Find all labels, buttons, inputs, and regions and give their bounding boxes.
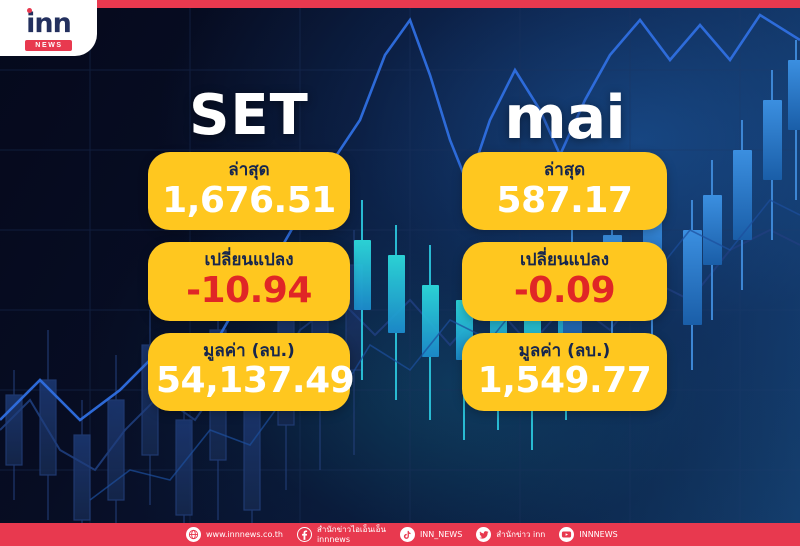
card-value: 54,137.49 — [156, 362, 342, 400]
top-red-bar — [0, 0, 800, 8]
poster-canvas: inn NEWS SET ล่าสุด 1,676.51 เปลี่ยนแปลง… — [0, 0, 800, 546]
index-block-set: SET ล่าสุด 1,676.51 เปลี่ยนแปลง -10.94 ม… — [148, 88, 350, 423]
index-name-set: SET — [148, 88, 350, 152]
card-value: -0.09 — [470, 272, 659, 310]
logo-wordmark-text: inn — [26, 8, 71, 39]
card-set-value: มูลค่า (ลบ.) 54,137.49 — [148, 333, 350, 411]
footer-link-tiktok[interactable]: INN_NEWS — [400, 527, 462, 542]
card-label: มูลค่า (ลบ.) — [470, 342, 659, 362]
facebook-icon — [297, 527, 312, 542]
youtube-icon — [559, 527, 574, 542]
card-label: ล่าสุด — [470, 161, 659, 181]
globe-icon — [186, 527, 201, 542]
footer-link-label: INN_NEWS — [420, 530, 462, 539]
footer-link-label-line1: สำนักข่าวไอเอ็นเอ็น — [317, 525, 386, 534]
footer-link-label-line2: innnews — [317, 535, 386, 544]
card-mai-change: เปลี่ยนแปลง -0.09 — [462, 242, 667, 320]
footer-link-website[interactable]: www.innnews.co.th — [186, 527, 283, 542]
card-label: มูลค่า (ลบ.) — [156, 342, 342, 362]
logo-dot-icon — [27, 8, 32, 13]
card-value: 1,676.51 — [156, 182, 342, 220]
footer-social-bar: www.innnews.co.th สำนักข่าวไอเอ็นเอ็น in… — [0, 523, 800, 546]
footer-link-label: www.innnews.co.th — [206, 530, 283, 539]
footer-link-twitter[interactable]: สำนักข่าว inn — [476, 527, 545, 542]
card-set-last: ล่าสุด 1,676.51 — [148, 152, 350, 230]
background-candlestick-chart — [0, 0, 800, 546]
logo-news-badge: NEWS — [25, 40, 71, 51]
footer-link-youtube[interactable]: INNNEWS — [559, 527, 617, 542]
card-mai-last: ล่าสุด 587.17 — [462, 152, 667, 230]
index-block-mai: mai ล่าสุด 587.17 เปลี่ยนแปลง -0.09 มูลค… — [462, 88, 667, 423]
footer-link-label: สำนักข่าวไอเอ็นเอ็น innnews — [317, 525, 386, 543]
index-name-mai: mai — [462, 88, 667, 152]
card-label: เปลี่ยนแปลง — [470, 251, 659, 271]
footer-link-facebook[interactable]: สำนักข่าวไอเอ็นเอ็น innnews — [297, 525, 386, 543]
inn-news-logo[interactable]: inn NEWS — [0, 0, 97, 56]
card-value: -10.94 — [156, 272, 342, 310]
card-set-change: เปลี่ยนแปลง -10.94 — [148, 242, 350, 320]
card-label: ล่าสุด — [156, 161, 342, 181]
card-label: เปลี่ยนแปลง — [156, 251, 342, 271]
footer-link-label: สำนักข่าว inn — [496, 530, 545, 539]
twitter-icon — [476, 527, 491, 542]
logo-wordmark: inn — [26, 10, 71, 37]
tiktok-icon — [400, 527, 415, 542]
card-mai-value: มูลค่า (ลบ.) 1,549.77 — [462, 333, 667, 411]
card-value: 1,549.77 — [470, 362, 659, 400]
footer-link-label: INNNEWS — [579, 530, 617, 539]
card-value: 587.17 — [470, 182, 659, 220]
